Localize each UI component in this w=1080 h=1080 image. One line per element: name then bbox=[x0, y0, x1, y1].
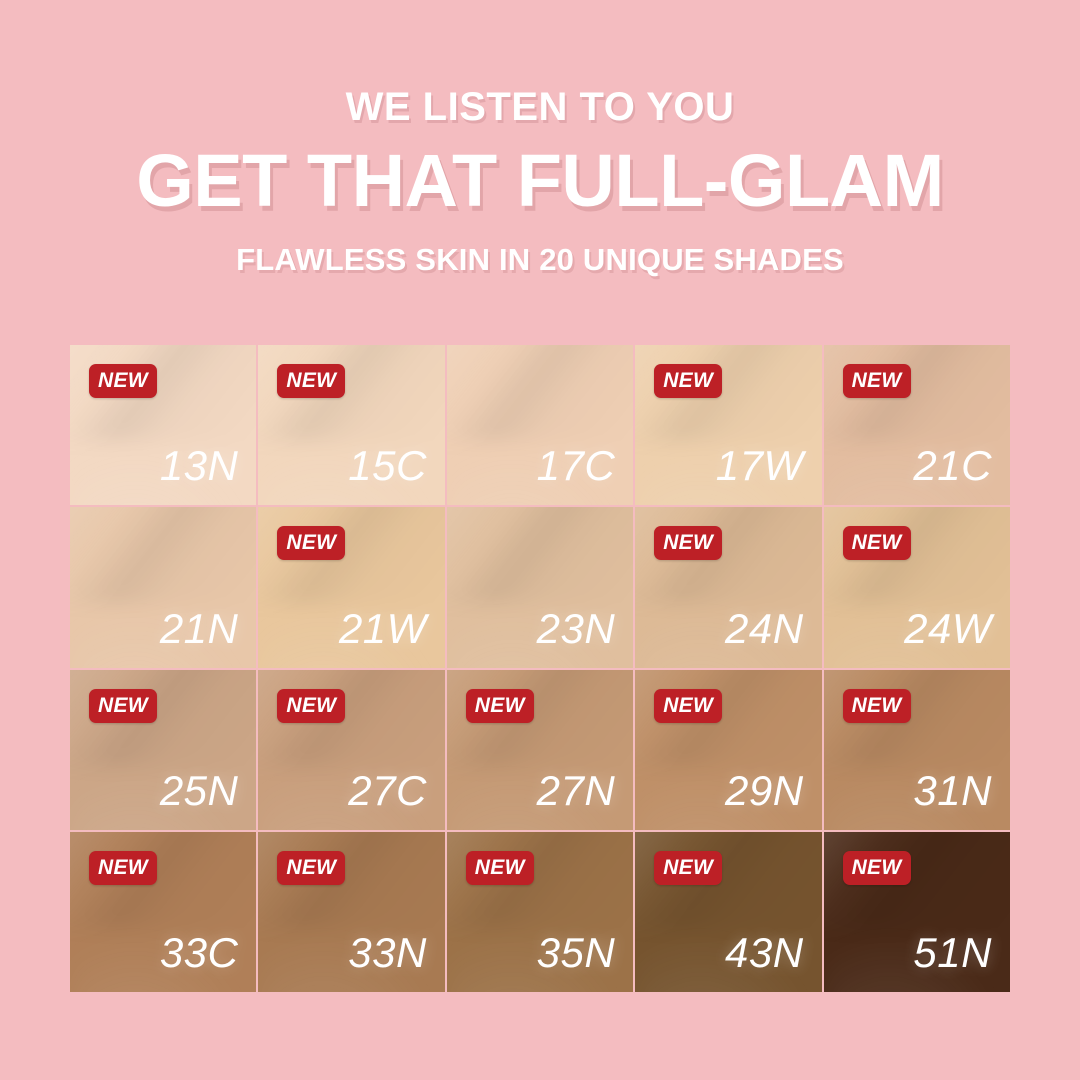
shade-code-label: 33C bbox=[160, 932, 239, 974]
new-badge: NEW bbox=[843, 851, 911, 885]
new-badge: NEW bbox=[654, 526, 722, 560]
new-badge: NEW bbox=[843, 364, 911, 398]
new-badge: NEW bbox=[277, 689, 345, 723]
shade-code-label: 17W bbox=[716, 445, 804, 487]
new-badge: NEW bbox=[89, 364, 157, 398]
shade-code-label: 27C bbox=[348, 770, 427, 812]
shade-code-label: 21C bbox=[913, 445, 992, 487]
shade-swatch[interactable]: NEW27C bbox=[258, 670, 444, 830]
shade-code-label: 24N bbox=[725, 608, 804, 650]
shade-swatch[interactable]: NEW27N bbox=[447, 670, 633, 830]
shade-swatch[interactable]: NEW24W bbox=[824, 507, 1010, 667]
shade-swatch[interactable]: 23N bbox=[447, 507, 633, 667]
shade-code-label: 31N bbox=[913, 770, 992, 812]
shade-swatch-grid: NEW13NNEW15C17CNEW17WNEW21C21NNEW21W23NN… bbox=[70, 345, 1010, 992]
shade-code-label: 21N bbox=[160, 608, 239, 650]
shade-code-label: 15C bbox=[348, 445, 427, 487]
shade-swatch[interactable]: 21N bbox=[70, 507, 256, 667]
subheadline-text: FLAWLESS SKIN IN 20 UNIQUE SHADES bbox=[0, 244, 1080, 277]
new-badge: NEW bbox=[654, 364, 722, 398]
shade-code-label: 21W bbox=[339, 608, 427, 650]
shade-swatch[interactable]: NEW43N bbox=[635, 832, 821, 992]
new-badge: NEW bbox=[89, 689, 157, 723]
shade-code-label: 27N bbox=[537, 770, 616, 812]
shade-swatch[interactable]: NEW21C bbox=[824, 345, 1010, 505]
shade-swatch[interactable]: NEW35N bbox=[447, 832, 633, 992]
shade-swatch[interactable]: NEW17W bbox=[635, 345, 821, 505]
new-badge: NEW bbox=[277, 851, 345, 885]
shade-swatch[interactable]: NEW51N bbox=[824, 832, 1010, 992]
new-badge: NEW bbox=[277, 526, 345, 560]
shade-swatch[interactable]: NEW13N bbox=[70, 345, 256, 505]
shade-code-label: 13N bbox=[160, 445, 239, 487]
shade-code-label: 35N bbox=[537, 932, 616, 974]
shade-swatch[interactable]: NEW29N bbox=[635, 670, 821, 830]
shade-swatch[interactable]: NEW31N bbox=[824, 670, 1010, 830]
shade-swatch[interactable]: NEW21W bbox=[258, 507, 444, 667]
shade-code-label: 33N bbox=[348, 932, 427, 974]
new-badge: NEW bbox=[843, 689, 911, 723]
page-title: GET THAT FULL-GLAM bbox=[0, 144, 1080, 218]
shade-code-label: 17C bbox=[537, 445, 616, 487]
shade-swatch[interactable]: NEW15C bbox=[258, 345, 444, 505]
new-badge: NEW bbox=[277, 364, 345, 398]
new-badge: NEW bbox=[843, 526, 911, 560]
shade-swatch[interactable]: NEW33N bbox=[258, 832, 444, 992]
shade-code-label: 51N bbox=[913, 932, 992, 974]
promo-header: WE LISTEN TO YOU GET THAT FULL-GLAM FLAW… bbox=[0, 0, 1080, 277]
shade-swatch[interactable]: NEW33C bbox=[70, 832, 256, 992]
eyebrow-text: WE LISTEN TO YOU bbox=[0, 86, 1080, 128]
shade-swatch[interactable]: 17C bbox=[447, 345, 633, 505]
new-badge: NEW bbox=[466, 689, 534, 723]
shade-code-label: 43N bbox=[725, 932, 804, 974]
new-badge: NEW bbox=[654, 689, 722, 723]
shade-code-label: 29N bbox=[725, 770, 804, 812]
new-badge: NEW bbox=[89, 851, 157, 885]
shade-code-label: 23N bbox=[537, 608, 616, 650]
shade-code-label: 25N bbox=[160, 770, 239, 812]
shade-swatch[interactable]: NEW25N bbox=[70, 670, 256, 830]
shade-swatch[interactable]: NEW24N bbox=[635, 507, 821, 667]
new-badge: NEW bbox=[466, 851, 534, 885]
new-badge: NEW bbox=[654, 851, 722, 885]
shade-code-label: 24W bbox=[904, 608, 992, 650]
